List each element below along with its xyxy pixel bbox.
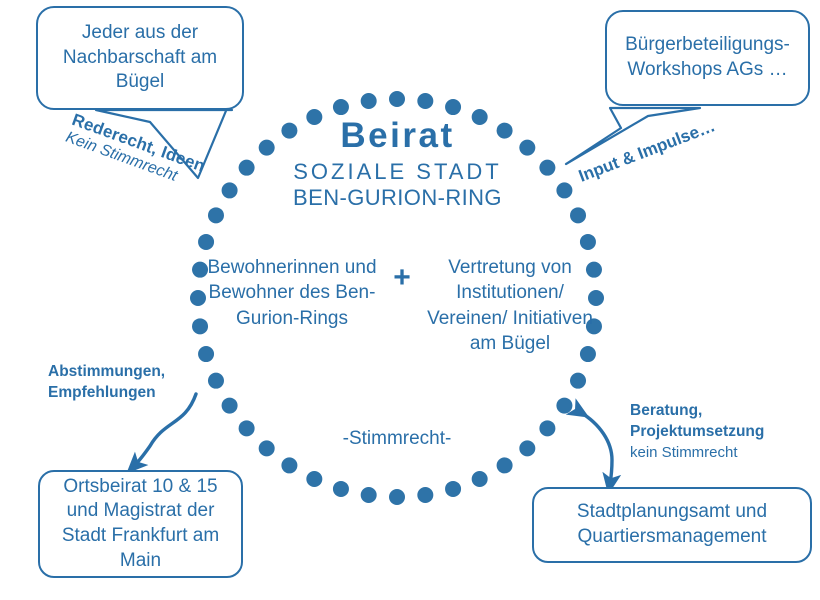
voting-rights-note: -Stimmrecht- xyxy=(197,428,597,450)
ring-dot xyxy=(281,457,297,473)
ring-dot xyxy=(445,99,461,115)
ring-dot xyxy=(497,123,513,139)
ring-dot xyxy=(333,99,349,115)
ring-dot xyxy=(570,373,586,389)
ring-dot xyxy=(281,123,297,139)
ring-dot xyxy=(239,160,255,176)
ring-dot xyxy=(445,481,461,497)
ring-dot xyxy=(306,109,322,125)
ring-dot xyxy=(580,234,596,250)
label-beratung-line3: kein Stimmrecht xyxy=(630,443,764,463)
ring-dot xyxy=(306,471,322,487)
ring-dot xyxy=(222,398,238,414)
ring-dot xyxy=(208,207,224,223)
ring-dot xyxy=(389,489,405,505)
box-ortsbeirat-magistrat[interactable]: Ortsbeirat 10 & 15 und Magistrat der Sta… xyxy=(38,470,243,578)
ring-dot xyxy=(198,234,214,250)
arrow-abstimmungen xyxy=(134,394,196,466)
ring-dot xyxy=(417,487,433,503)
speech-bubble-neighbourhood[interactable]: Jeder aus der Nachbarschaft am Bügel xyxy=(36,6,244,110)
label-beratung-projektumsetzung: Beratung, Projektumsetzung kein Stimmrec… xyxy=(630,401,764,463)
ring-dot xyxy=(417,93,433,109)
column-institutions: Vertretung von Institutionen/ Vereinen/ … xyxy=(424,255,596,356)
label-abstimmungen-empfehlungen: Abstimmungen, Empfehlungen xyxy=(48,362,165,404)
ring-dot xyxy=(389,91,405,107)
label-abstimmungen-line2: Empfehlungen xyxy=(48,383,165,404)
diagram-canvas: Beirat SOZIALE STADT BEN-GURION-RING Bew… xyxy=(0,0,820,600)
ring-member-columns: Bewohnerinnen und Bewohner des Ben-Gurio… xyxy=(185,255,615,356)
ring-dot xyxy=(472,471,488,487)
ring-dot xyxy=(556,182,572,198)
ring-dot xyxy=(361,487,377,503)
ring-dot xyxy=(222,182,238,198)
ring-dot xyxy=(333,481,349,497)
label-beratung-line2: Projektumsetzung xyxy=(630,422,764,443)
ring-dot xyxy=(539,160,555,176)
speech-bubble-neighbourhood-text: Jeder aus der Nachbarschaft am Bügel xyxy=(38,21,242,95)
column-residents: Bewohnerinnen und Bewohner des Ben-Gurio… xyxy=(204,255,380,331)
ring-dot xyxy=(472,109,488,125)
ring-dot xyxy=(361,93,377,109)
box-stadtplanungsamt[interactable]: Stadtplanungsamt und Quartiersmanagement xyxy=(532,487,812,563)
ring-dot xyxy=(570,207,586,223)
label-beratung-line1: Beratung, xyxy=(630,401,764,422)
ring-dot xyxy=(208,373,224,389)
ring-dot xyxy=(519,140,535,156)
speech-bubble-participation-text: Bürgerbeteiligungs- Workshops AGs … xyxy=(607,33,808,82)
box-stadtplanungsamt-text: Stadtplanungsamt und Quartiersmanagement xyxy=(534,500,810,549)
label-abstimmungen-line1: Abstimmungen, xyxy=(48,362,165,383)
plus-icon: + xyxy=(380,255,424,293)
speech-bubble-participation[interactable]: Bürgerbeteiligungs- Workshops AGs … xyxy=(605,10,810,106)
ring-dot xyxy=(556,398,572,414)
ring-dot xyxy=(497,457,513,473)
box-ortsbeirat-magistrat-text: Ortsbeirat 10 & 15 und Magistrat der Sta… xyxy=(40,475,241,574)
ring-dot xyxy=(259,140,275,156)
